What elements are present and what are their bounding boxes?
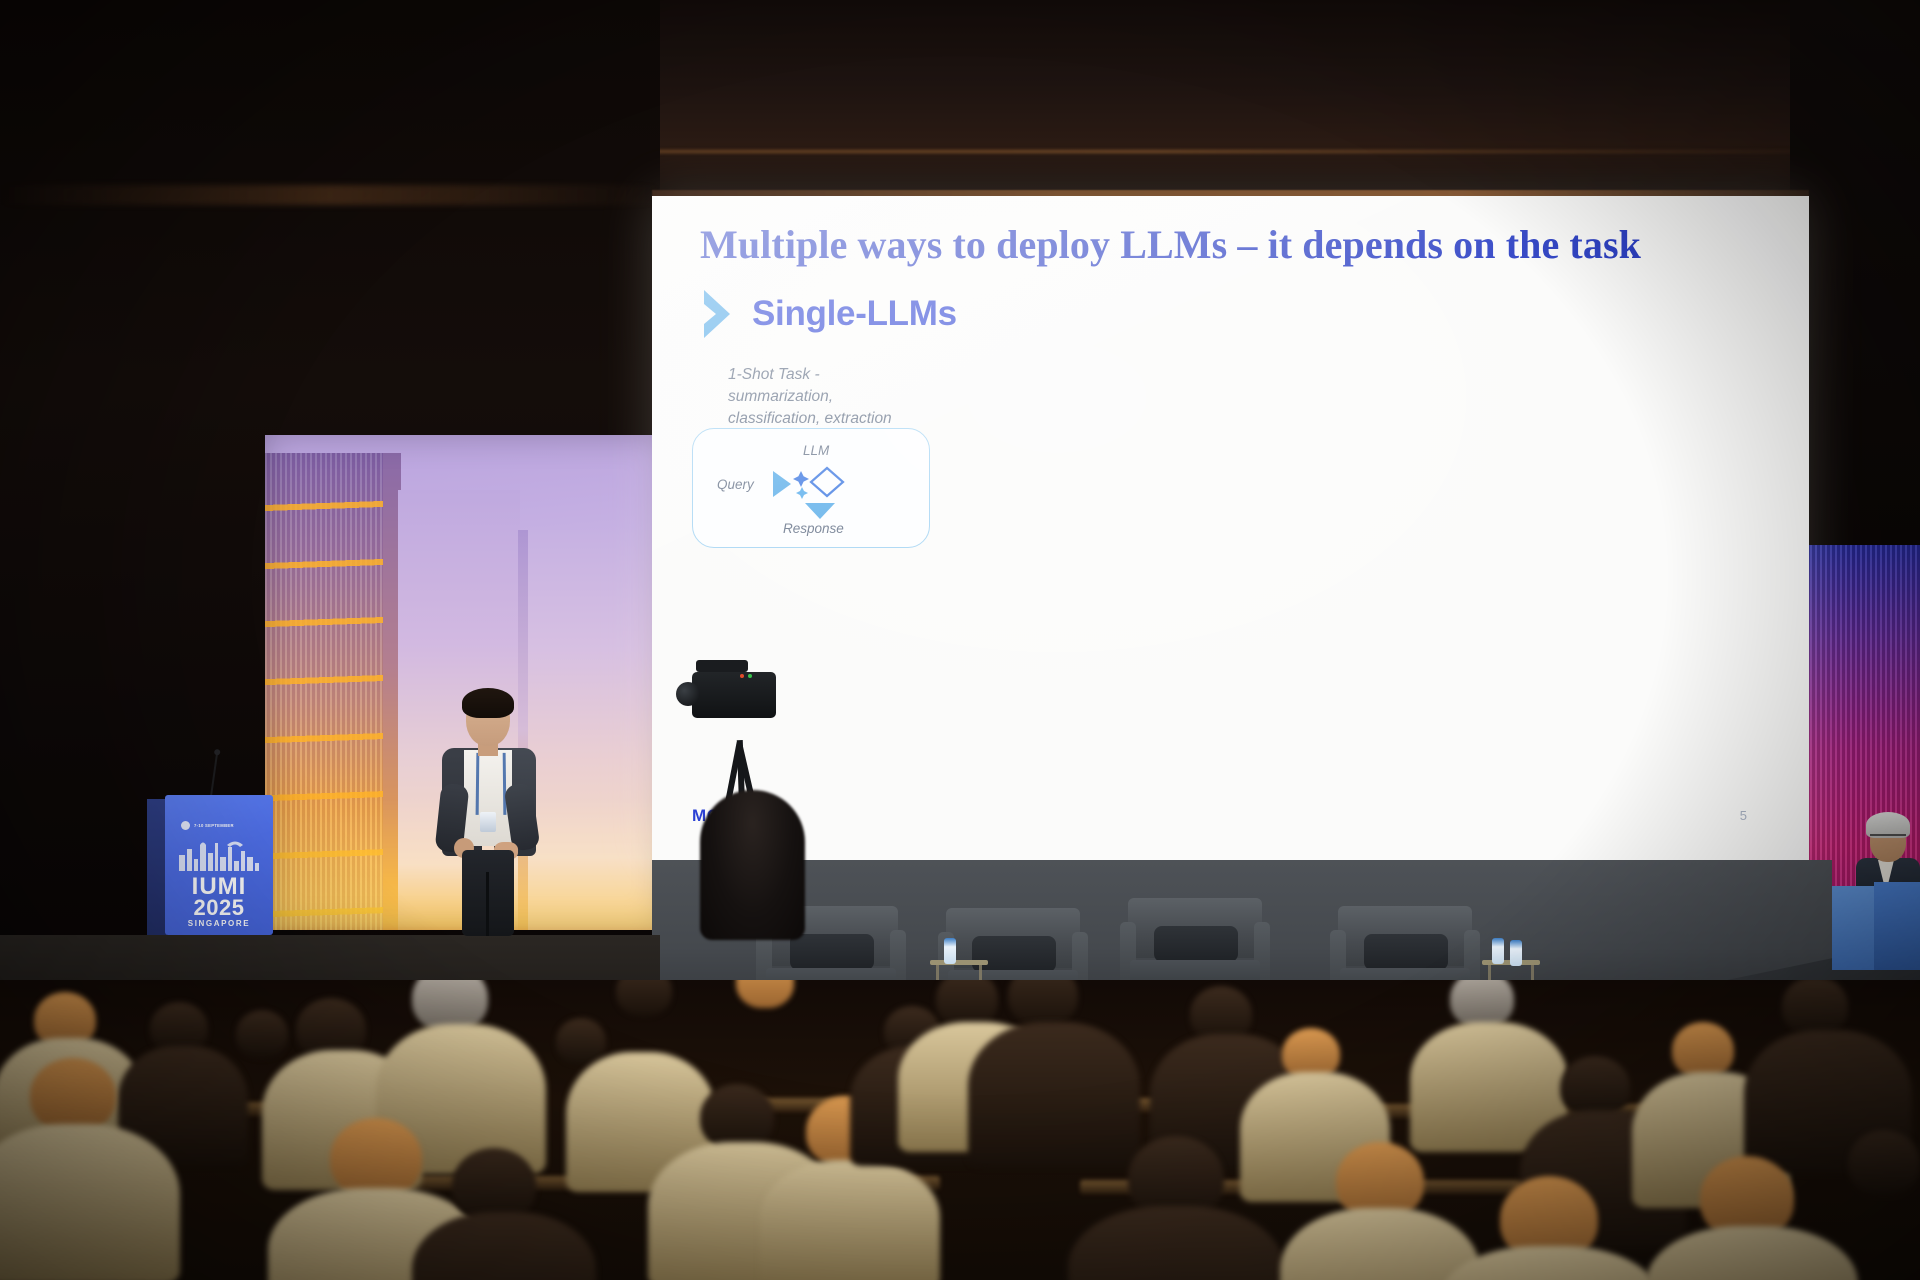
seated-audience bbox=[0, 980, 1920, 1280]
diagram-input-label: Query bbox=[717, 477, 754, 492]
podium-event-dates: 7-10 SEPTEMBER bbox=[194, 823, 234, 828]
llm-flow-diagram: Query LLM Response bbox=[692, 428, 930, 548]
podium-sign: 7-10 SEPTEMBER bbox=[165, 795, 273, 935]
secondary-lectern bbox=[1832, 886, 1920, 970]
slide-title: Multiple ways to deploy LLMs – it depend… bbox=[700, 221, 1770, 268]
slide-page-number: 5 bbox=[1740, 808, 1747, 823]
hall-right-wall bbox=[1790, 0, 1920, 560]
video-camera-icon bbox=[692, 672, 776, 718]
hall-light-band bbox=[0, 185, 660, 205]
podium-event-year: 2025 bbox=[165, 897, 273, 918]
globe-icon bbox=[181, 821, 190, 830]
arrow-down-icon bbox=[805, 503, 835, 519]
body-line-3: classification, extraction bbox=[728, 408, 892, 430]
podium-front-face: 7-10 SEPTEMBER bbox=[165, 795, 273, 935]
arrow-right-icon bbox=[773, 471, 791, 497]
water-bottle bbox=[944, 938, 956, 964]
sparkle-diamond-icon bbox=[793, 465, 849, 499]
chevron-right-icon bbox=[700, 288, 734, 340]
water-bottle bbox=[1492, 938, 1504, 964]
diagram-output-label: Response bbox=[783, 521, 844, 536]
body-line-1: 1-Shot Task - bbox=[728, 364, 892, 386]
section-heading-label: Single-LLMs bbox=[752, 294, 957, 334]
conference-photo: Multiple ways to deploy LLMs – it depend… bbox=[0, 0, 1920, 1280]
podium-event-city: SINGAPORE bbox=[165, 919, 273, 928]
diagram-model-label: LLM bbox=[803, 443, 829, 458]
eyeglasses-icon bbox=[1870, 834, 1906, 843]
water-bottle bbox=[1510, 940, 1522, 966]
slide-body-text: 1-Shot Task - summarization, classificat… bbox=[728, 364, 892, 430]
podium-side-panel bbox=[147, 799, 167, 935]
singapore-skyline-icon bbox=[177, 837, 261, 871]
camera-operator bbox=[700, 790, 805, 940]
projection-screen: Multiple ways to deploy LLMs – it depend… bbox=[652, 196, 1809, 866]
presentation-slide: Multiple ways to deploy LLMs – it depend… bbox=[652, 196, 1809, 866]
section-heading-row: Single-LLMs bbox=[700, 288, 957, 340]
body-line-2: summarization, bbox=[728, 386, 892, 408]
podium-date-row: 7-10 SEPTEMBER bbox=[181, 821, 234, 830]
presenter-figure bbox=[432, 692, 544, 932]
